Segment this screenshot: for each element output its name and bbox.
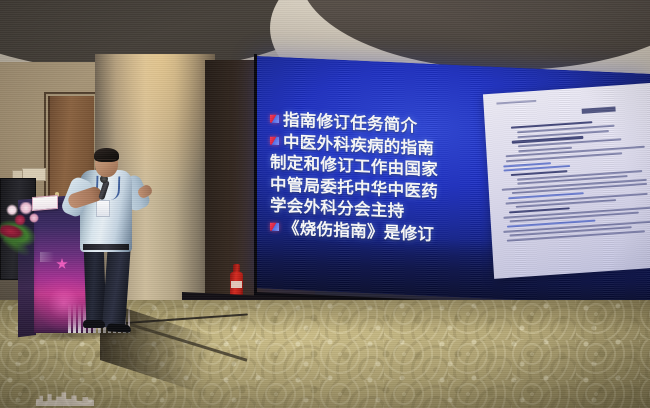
speaker-leg-right — [102, 243, 131, 328]
led-pixel-scanlines — [256, 56, 650, 306]
fire-extinguisher-label — [231, 281, 242, 288]
led-wall: 指南修订任务简介 中医外科疾病的指南 制定和修订工作由国家 中管局委托中华中医药… — [256, 56, 650, 306]
conference-name-badge — [96, 200, 110, 217]
speaker-belt — [83, 244, 129, 250]
glasses-icon — [97, 159, 116, 165]
speaker-legs — [85, 244, 131, 332]
speaker-shoe-left — [83, 320, 105, 328]
lectern-logo-mark — [40, 252, 54, 262]
speaker-shoe-right — [107, 323, 131, 333]
presentation-photo-scene: 指南修订任务简介 中医外科疾病的指南 制定和修订工作由国家 中管局委托中华中医药… — [0, 0, 650, 408]
floral-arrangement — [4, 202, 40, 228]
